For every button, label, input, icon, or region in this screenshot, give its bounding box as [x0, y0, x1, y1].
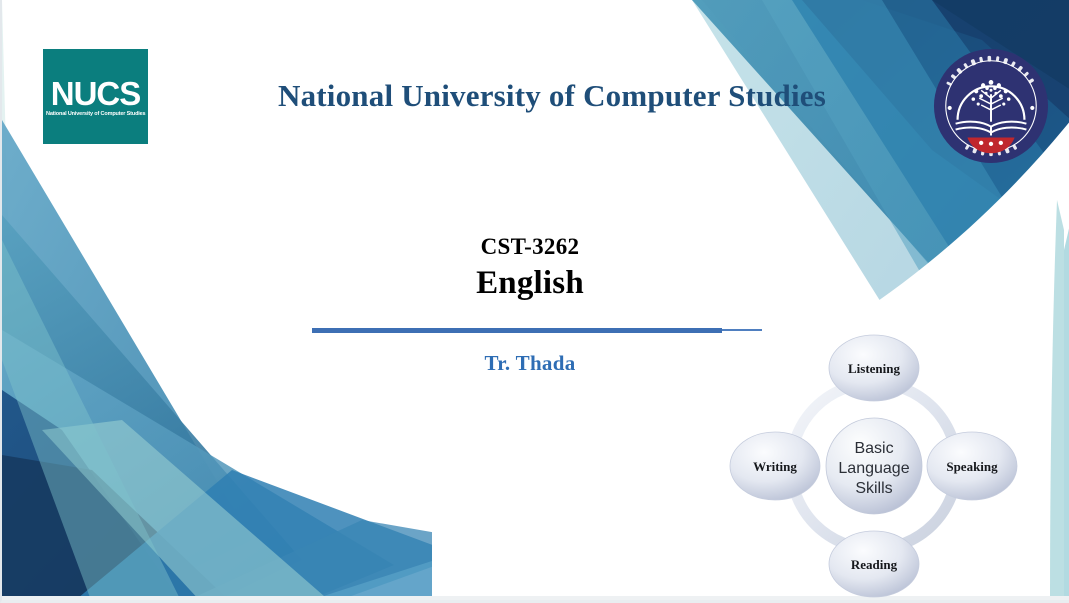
- diagram-center-line3: Skills: [855, 480, 892, 497]
- nucs-wordmark: NUCS: [51, 77, 141, 110]
- course-block: CST-3262 English: [230, 234, 830, 304]
- title-slide: NUCS National University of Computer Stu…: [0, 0, 1069, 603]
- diagram-node-listening: Listening: [829, 335, 919, 401]
- diagram-node-writing: Writing: [730, 432, 820, 500]
- nucs-logo: NUCS National University of Computer Stu…: [43, 49, 148, 144]
- diagram-center-line2: Language: [838, 460, 909, 477]
- diagram-node-listening-label: Listening: [848, 361, 901, 376]
- course-code: CST-3262: [230, 234, 830, 260]
- diagram-node-reading-label: Reading: [851, 557, 898, 572]
- diagram-node-speaking-label: Speaking: [946, 459, 998, 474]
- diagram-center-node: Basic Language Skills: [826, 418, 922, 514]
- nucs-logo-subtitle: National University of Computer Studies: [46, 111, 145, 117]
- diagram-node-reading: Reading: [829, 531, 919, 597]
- university-seal: seal: [932, 47, 1050, 165]
- divider-bar-thick: [312, 328, 722, 333]
- diagram-node-speaking: Speaking: [927, 432, 1017, 500]
- title-divider: [312, 327, 762, 334]
- page-title: National University of Computer Studies: [182, 78, 922, 114]
- course-name: English: [230, 264, 830, 304]
- basic-language-skills-diagram: Listening Speaking Reading Writing Basic…: [724, 328, 1024, 600]
- diagram-center-line1: Basic: [854, 440, 893, 457]
- diagram-node-writing-label: Writing: [753, 459, 797, 474]
